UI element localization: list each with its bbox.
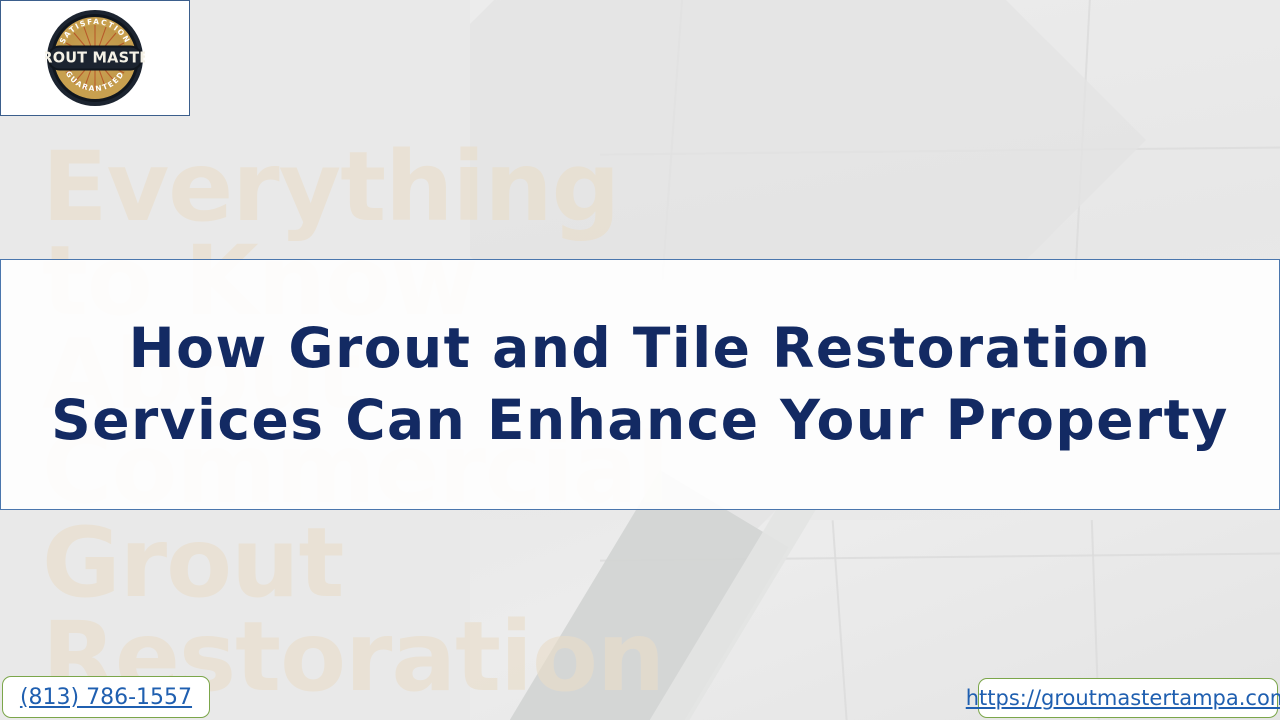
logo-card[interactable]: SATISFACTION GUARANTEED GROUT MASTER xyxy=(0,0,190,116)
svg-text:GROUT MASTER: GROUT MASTER xyxy=(45,48,145,67)
phone-number-pill[interactable]: (813) 786-1557 xyxy=(2,676,210,718)
title-card: How Grout and Tile Restoration Services … xyxy=(0,259,1280,510)
website-link[interactable]: https://groutmastertampa.com xyxy=(966,686,1280,710)
website-url-pill[interactable]: https://groutmastertampa.com xyxy=(978,678,1278,718)
presentation-slide: Everything to Know About Commercial Grou… xyxy=(0,0,1280,720)
grout-line-vertical xyxy=(832,520,851,720)
slide-title: How Grout and Tile Restoration Services … xyxy=(50,313,1230,456)
grout-master-badge-icon: SATISFACTION GUARANTEED GROUT MASTER xyxy=(45,8,145,108)
phone-link[interactable]: (813) 786-1557 xyxy=(20,685,192,710)
